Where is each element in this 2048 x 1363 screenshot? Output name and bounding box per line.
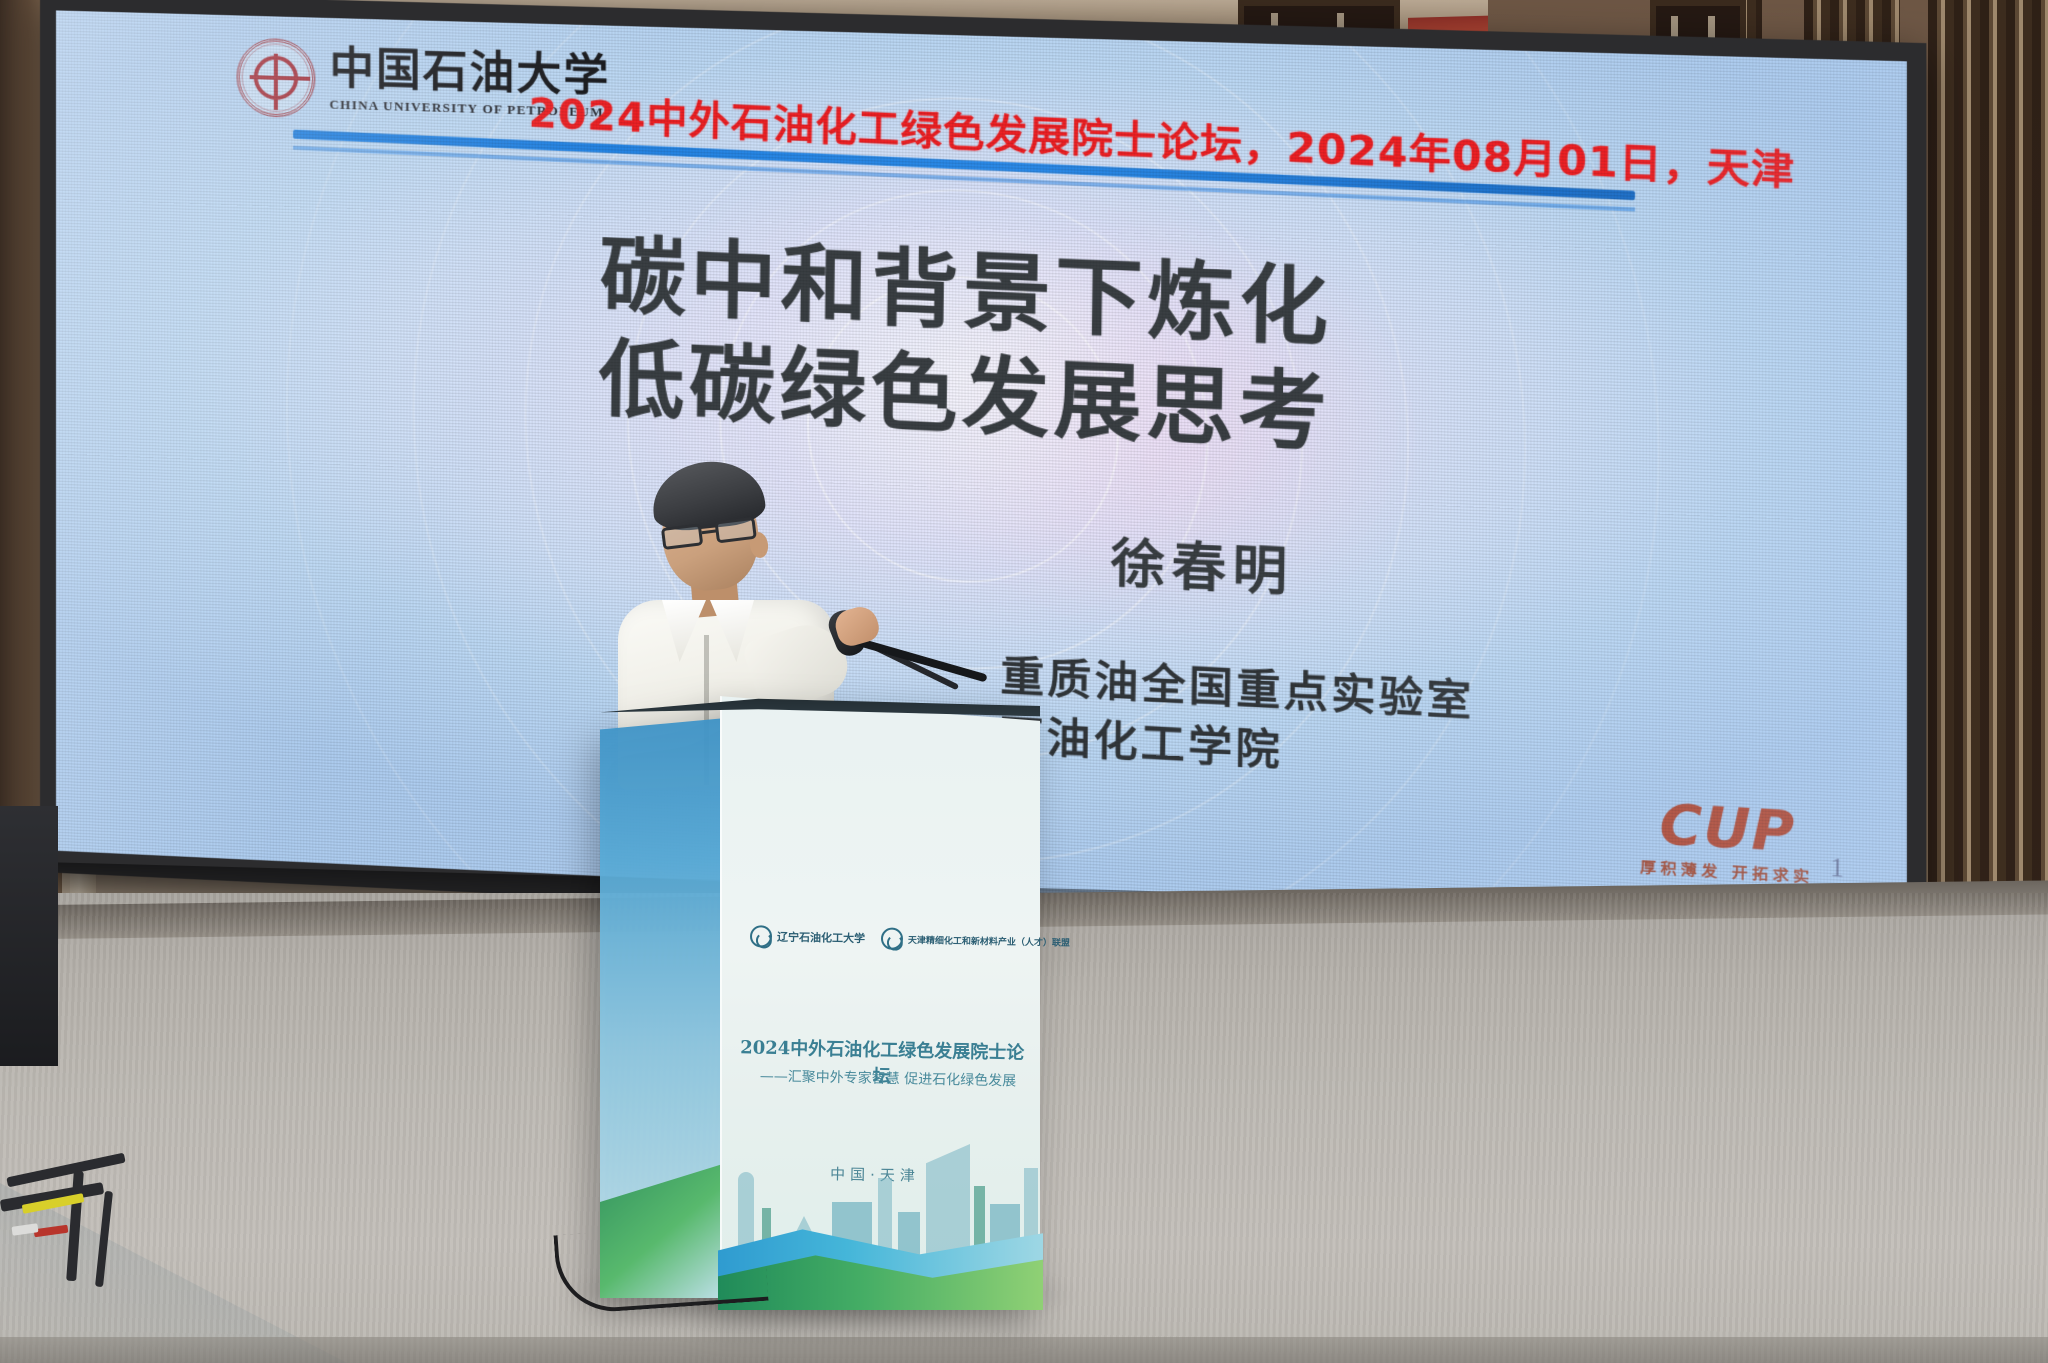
podium-logo-alliance: 天津精细化工和新材料产业（人才）联盟: [881, 927, 1070, 952]
slide-banner-title: 2024中外石油化工绿色发展院士论坛，2024年08月01日，天津: [528, 80, 1796, 198]
slide-affiliation: 重质油全国重点实验室 石油化工学院: [999, 647, 1474, 792]
conference-photo-scene: 中国石油大学 CHINA UNIVERSITY OF PETROLEUM 202…: [0, 0, 2048, 1363]
slide-speaker-name: 徐春明: [1111, 520, 1295, 606]
stage-floor-equipment: [0, 1147, 160, 1277]
podium-cable: [553, 1221, 768, 1315]
podium-logo-university: 辽宁石油化工大学: [750, 925, 865, 949]
stage-front-edge: [0, 1337, 2048, 1363]
podium-logo-university-label: 辽宁石油化工大学: [777, 929, 865, 947]
slide-main-title: 碳中和背景下炼化 低碳绿色发展思考: [56, 200, 1907, 495]
slide-page-number: 1: [1830, 852, 1844, 884]
alliance-emblem-icon: [881, 927, 903, 949]
slide-cup-logo: CUP 厚积薄发 开拓求实: [1640, 796, 1815, 888]
podium-logo-alliance-label: 天津精细化工和新材料产业（人才）联盟: [908, 932, 1070, 948]
podium: 辽宁石油化工大学 天津精细化工和新材料产业（人才）联盟 2024中外石油化工绿色…: [600, 690, 1040, 1310]
stage-left-speaker-cabinet: [0, 806, 58, 1066]
cup-wordmark: CUP: [1640, 796, 1814, 862]
university-seal-icon: [237, 38, 316, 119]
university-emblem-icon: [750, 925, 772, 947]
